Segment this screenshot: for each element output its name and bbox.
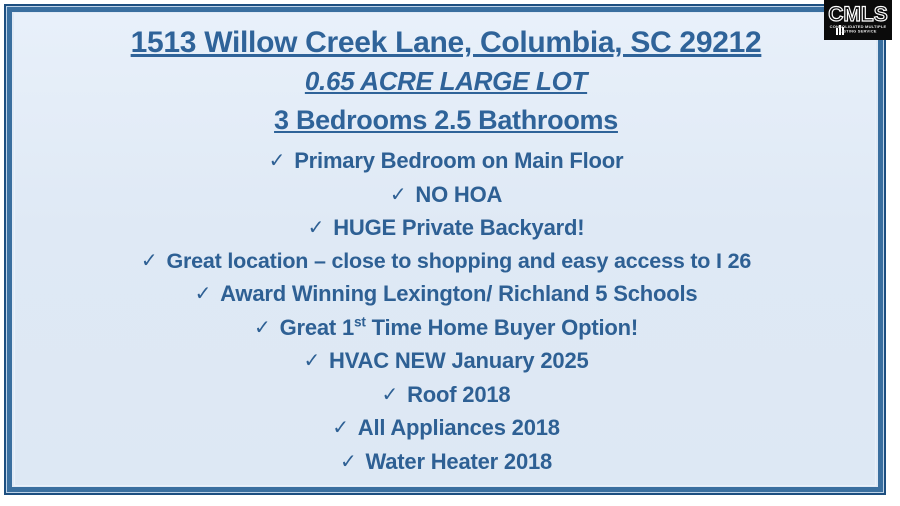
- check-icon: ✓: [195, 279, 212, 311]
- feature-item-move-in-ready: ✓MOVE IN READY!: [15, 479, 876, 486]
- flyer-content: 1513 Willow Creek Lane, Columbia, SC 292…: [15, 14, 876, 486]
- check-icon: ✓: [332, 413, 349, 445]
- feature-label: Great location – close to shopping and e…: [166, 249, 751, 273]
- cmls-wordmark: CMLS: [824, 3, 892, 27]
- headline-beds-baths: 3 Bedrooms 2.5 Bathrooms: [15, 101, 876, 139]
- feature-item-backyard: ✓HUGE Private Backyard!: [15, 212, 876, 246]
- feature-item-primary-bedroom: ✓Primary Bedroom on Main Floor: [15, 145, 876, 179]
- feature-item-water-heater: ✓Water Heater 2018: [15, 446, 876, 480]
- feature-label: Water Heater 2018: [366, 449, 553, 474]
- feature-label: Roof 2018: [407, 382, 510, 407]
- cmls-subtext: CONSOLIDATED MULTIPLE LISTING SERVICE: [824, 25, 892, 34]
- feature-label: Award Winning Lexington/ Richland 5 Scho…: [220, 281, 697, 306]
- feature-label: HUGE Private Backyard!: [333, 215, 584, 240]
- feature-list: ✓Primary Bedroom on Main Floor ✓NO HOA ✓…: [15, 145, 876, 486]
- feature-label: All Appliances 2018: [358, 415, 560, 440]
- check-icon: ✓: [382, 380, 399, 412]
- feature-label: HVAC NEW January 2025: [329, 348, 589, 373]
- feature-label-sup: st: [354, 314, 366, 329]
- check-icon: ✓: [390, 180, 407, 212]
- check-icon: ✓: [340, 447, 357, 479]
- feature-item-first-time-buyer: ✓Great 1st Time Home Buyer Option!: [15, 312, 876, 346]
- headline-address: 1513 Willow Creek Lane, Columbia, SC 292…: [15, 24, 876, 62]
- check-icon: ✓: [308, 213, 325, 245]
- check-icon: ✓: [343, 480, 360, 486]
- feature-label-post: Time Home Buyer Option!: [366, 315, 638, 340]
- flyer-page: 1513 Willow Creek Lane, Columbia, SC 292…: [0, 0, 900, 506]
- feature-item-location: ✓Great location – close to shopping and …: [15, 246, 876, 279]
- cmls-logo: CMLS CONSOLIDATED MULTIPLE LISTING SERVI…: [824, 0, 892, 40]
- feature-item-no-hoa: ✓NO HOA: [15, 179, 876, 213]
- flyer-content-plate: 1513 Willow Creek Lane, Columbia, SC 292…: [14, 13, 876, 486]
- feature-item-roof: ✓Roof 2018: [15, 379, 876, 413]
- feature-label: NO HOA: [415, 182, 502, 207]
- check-icon: ✓: [269, 146, 286, 178]
- feature-item-appliances: ✓All Appliances 2018: [15, 412, 876, 446]
- feature-item-schools: ✓Award Winning Lexington/ Richland 5 Sch…: [15, 278, 876, 312]
- feature-label: Primary Bedroom on Main Floor: [294, 148, 623, 173]
- check-icon: ✓: [254, 313, 271, 345]
- check-icon: ✓: [303, 346, 320, 378]
- feature-label-pre: Great 1: [280, 315, 354, 340]
- feature-label: MOVE IN READY!: [369, 482, 550, 486]
- feature-item-hvac: ✓HVAC NEW January 2025: [15, 345, 876, 379]
- check-icon: ✓: [141, 246, 158, 278]
- headline-lot-size: 0.65 ACRE LARGE LOT: [15, 63, 876, 99]
